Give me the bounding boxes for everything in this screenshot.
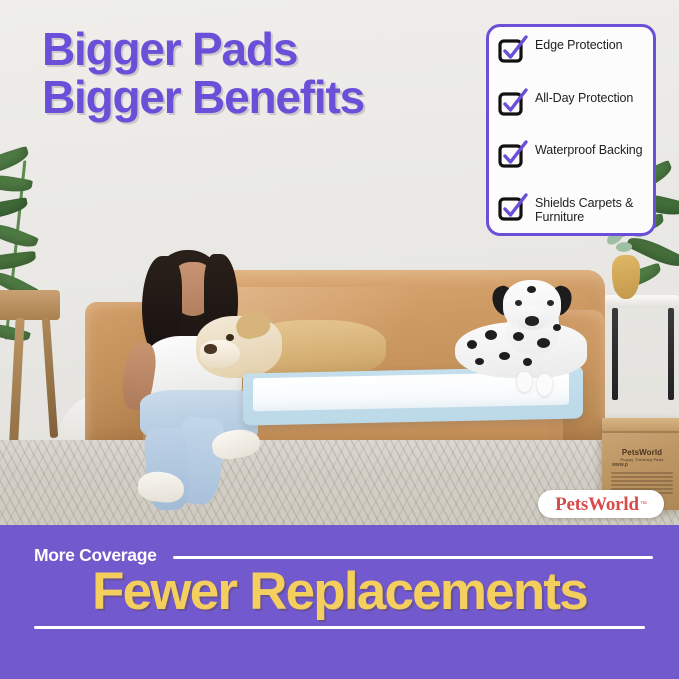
dalmatian-spot bbox=[527, 286, 536, 293]
dalmatian-spot bbox=[537, 338, 550, 348]
dalmatian-nose bbox=[525, 316, 539, 326]
dalmatian-spot bbox=[499, 352, 510, 360]
page-title: Bigger Pads Bigger Benefits bbox=[42, 26, 364, 122]
checkbox-check-icon bbox=[499, 92, 526, 117]
feature-item-edge-protection: Edge Protection bbox=[499, 37, 645, 64]
feature-item-shields-carpets-furniture: Shields Carpets & Furniture bbox=[499, 195, 645, 226]
feature-item-all-day-protection: All-Day Protection bbox=[499, 90, 645, 117]
bulldog-eye bbox=[226, 334, 234, 341]
dalmatian-eye bbox=[547, 300, 554, 306]
side-table-left bbox=[0, 290, 60, 320]
banner-divider-bottom bbox=[34, 626, 645, 629]
banner-divider-top bbox=[173, 556, 653, 559]
box-flap bbox=[602, 418, 679, 431]
petsworld-logo-text: PetsWorld bbox=[555, 495, 639, 514]
bulldog-nose bbox=[204, 344, 217, 354]
product-infographic: PetsWorld Puppy Training Pads www.p Pets… bbox=[0, 0, 679, 679]
banner-headline: Fewer Replacements bbox=[0, 564, 679, 620]
banner-eyebrow-row: More Coverage bbox=[0, 525, 679, 566]
side-table-right bbox=[604, 295, 679, 308]
bottom-banner: More Coverage Fewer Replacements bbox=[0, 525, 679, 679]
feature-label: Shields Carpets & Furniture bbox=[535, 195, 645, 226]
feature-label: Waterproof Backing bbox=[535, 142, 643, 158]
gold-vase bbox=[612, 255, 640, 299]
headline-line-2: Bigger Benefits bbox=[42, 74, 364, 122]
dalmatian-spot bbox=[513, 332, 524, 341]
box-url: www.p bbox=[612, 462, 628, 468]
dalmatian-paw bbox=[517, 372, 532, 392]
checkbox-check-icon bbox=[499, 197, 526, 222]
dalmatian-paw bbox=[537, 374, 552, 396]
checkbox-check-icon bbox=[499, 39, 526, 64]
trademark-icon: ™ bbox=[640, 501, 647, 508]
side-table-right-leg bbox=[668, 308, 674, 400]
feature-list-card: Edge Protection All-Day Protection Water… bbox=[486, 24, 656, 236]
feature-label: All-Day Protection bbox=[535, 90, 633, 106]
dalmatian-spot bbox=[553, 324, 561, 331]
petsworld-logo-badge: PetsWorld ™ bbox=[538, 490, 664, 518]
feature-label: Edge Protection bbox=[535, 37, 622, 53]
dalmatian bbox=[455, 280, 595, 395]
headline-line-1: Bigger Pads bbox=[42, 26, 364, 74]
box-brand-name: PetsWorld bbox=[622, 448, 662, 457]
dalmatian-spot bbox=[523, 358, 532, 366]
box-seam bbox=[602, 431, 679, 433]
dalmatian-spot bbox=[485, 330, 497, 340]
checkbox-check-icon bbox=[499, 144, 526, 169]
feature-item-waterproof-backing: Waterproof Backing bbox=[499, 142, 645, 169]
dalmatian-spot bbox=[467, 340, 477, 349]
box-brand-label: PetsWorld Puppy Training Pads bbox=[609, 448, 675, 462]
dalmatian-spot bbox=[475, 358, 484, 365]
dalmatian-eye bbox=[515, 300, 522, 306]
side-table-right-leg bbox=[612, 308, 618, 400]
